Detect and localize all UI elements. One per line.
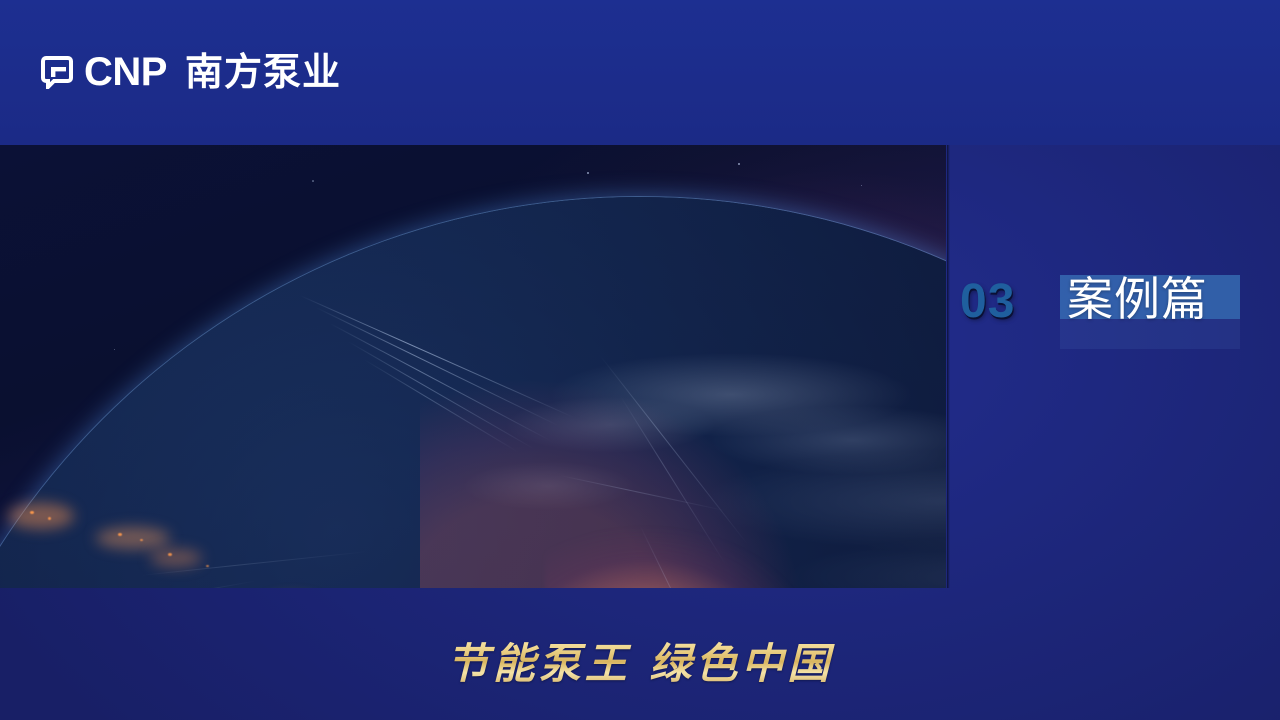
earth-from-space-image: [0, 145, 946, 588]
slide-footer: 节能泵王 绿色中国 节能泵王 绿色中国: [0, 588, 1280, 720]
presentation-slide: CNP 南方泵业: [0, 0, 1280, 720]
logo-latin-text: CNP: [84, 52, 167, 92]
footer-tagline: 节能泵王 绿色中国: [0, 630, 1280, 691]
brand-logo[interactable]: CNP 南方泵业: [40, 52, 341, 92]
section-title-block: 03 案例篇: [955, 270, 1255, 370]
section-number: 03: [960, 278, 1015, 326]
logo-chinese-text: 南方泵业: [185, 53, 341, 91]
star-trail-streaks: [0, 145, 946, 588]
slide-header: CNP 南方泵业: [0, 0, 1280, 145]
section-title: 案例篇: [1067, 274, 1208, 326]
photo-divider: [947, 145, 950, 588]
cnp-monogram-icon: [40, 55, 74, 89]
